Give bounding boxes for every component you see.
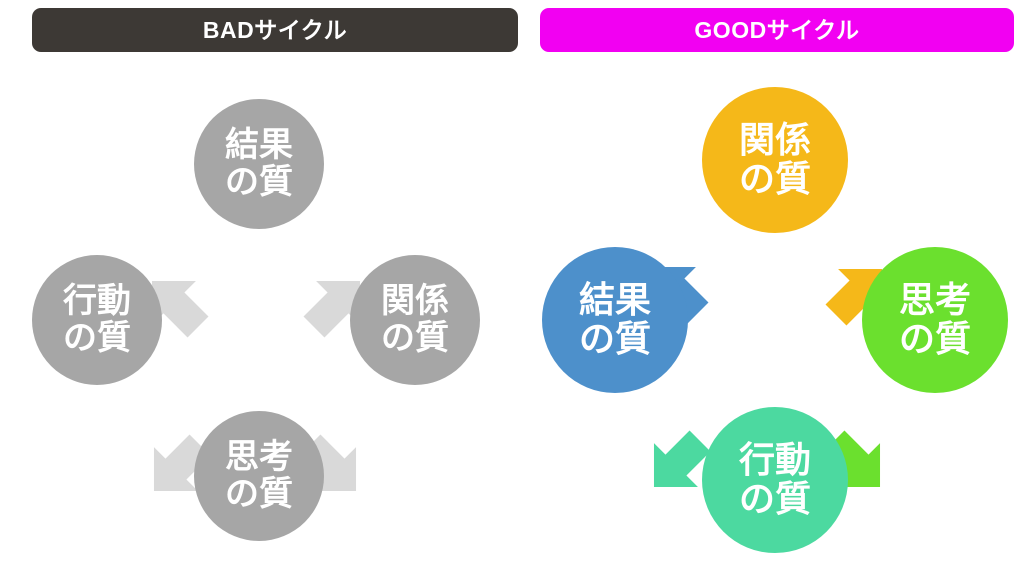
good-node-relationship[interactable]: 関係 の質 (702, 87, 848, 233)
good-node-result-line2: の質 (579, 320, 651, 359)
good-node-result[interactable]: 結果 の質 (542, 247, 688, 393)
good-node-relationship-line1: 関係 (739, 121, 811, 160)
good-cycle-diagram: 関係 の質 思考 の質 行動 の質 結果 の質 (512, 55, 1024, 571)
good-node-action[interactable]: 行動 の質 (702, 407, 848, 553)
bad-node-result[interactable]: 結果 の質 (194, 99, 324, 229)
bad-node-result-line1: 結果 (225, 127, 293, 164)
bad-node-result-line2: の質 (225, 164, 293, 201)
slide-canvas: BADサイクル GOODサイクル 結果 の質 (0, 0, 1024, 571)
good-node-action-line1: 行動 (739, 441, 811, 480)
bad-cycle-header-label: BADサイクル (203, 19, 347, 42)
bad-node-relationship-line2: の質 (381, 320, 449, 357)
bad-cycle-header: BADサイクル (32, 8, 518, 52)
bad-node-action-line1: 行動 (63, 283, 131, 320)
good-node-relationship-line2: の質 (739, 160, 811, 199)
bad-node-action-line2: の質 (63, 320, 131, 357)
bad-node-thought-line2: の質 (225, 476, 293, 513)
good-cycle-header: GOODサイクル (540, 8, 1014, 52)
bad-cycle-diagram: 結果 の質 関係 の質 思考 の質 行動 の質 (0, 55, 520, 571)
bad-node-relationship[interactable]: 関係 の質 (350, 255, 480, 385)
good-node-thought[interactable]: 思考 の質 (862, 247, 1008, 393)
good-cycle-header-label: GOODサイクル (694, 19, 859, 42)
good-node-thought-line1: 思考 (899, 281, 971, 320)
bad-node-action[interactable]: 行動 の質 (32, 255, 162, 385)
good-node-action-line2: の質 (739, 480, 811, 519)
good-node-thought-line2: の質 (899, 320, 971, 359)
bad-node-thought-line1: 思考 (225, 439, 293, 476)
good-node-result-line1: 結果 (579, 281, 651, 320)
bad-node-thought[interactable]: 思考 の質 (194, 411, 324, 541)
bad-node-relationship-line1: 関係 (381, 283, 449, 320)
